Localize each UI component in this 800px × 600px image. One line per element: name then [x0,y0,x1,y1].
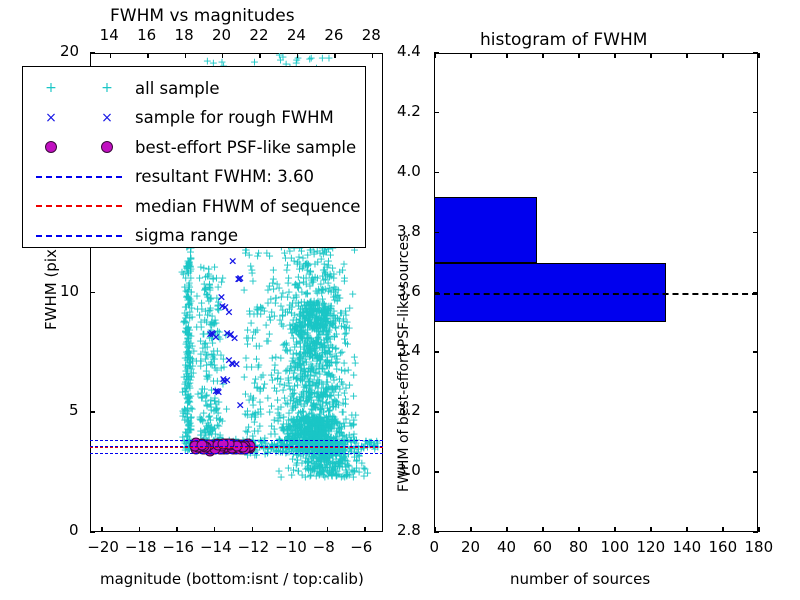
left-y-tick-10: 10 [60,282,79,300]
dashed-line-icon [36,205,122,207]
right-y-tick-4.0: 4.0 [397,162,421,180]
legend-plus-icon: ++ [23,81,135,95]
axis-tick [614,527,616,532]
left-bottom-tick-5: −10 [275,538,307,556]
scatter-point-all-sample: + [181,338,190,349]
legend-dashed-line-icon [23,205,135,207]
legend-entry-4: median FHWM of sequence [23,191,365,221]
axis-tick [753,531,758,533]
axis-tick [758,527,760,532]
scatter-point-all-sample: + [203,55,212,66]
scatter-point-all-sample: + [253,250,262,261]
axis-tick [758,53,760,58]
scatter-point-all-sample: + [242,332,251,343]
left-bottom-tick-6: −8 [313,538,335,556]
axis-tick [753,411,758,413]
scatter-point-all-sample: + [251,412,260,423]
right-x-tick-20: 20 [461,538,480,556]
scatter-point-all-sample: + [328,471,337,482]
right-x-tick-0: 0 [430,538,440,556]
axis-tick [686,527,688,532]
axis-tick [434,531,439,533]
x-icon: × [45,111,57,125]
scatter-point-all-sample: + [267,370,276,381]
legend-label: resultant FWHM: 3.60 [135,167,314,186]
legend-entry-5: sigma range [23,221,365,251]
legend-x-icon: ×× [23,111,135,125]
legend-dashed-line-icon [23,176,135,178]
dashdot-line-icon [36,235,122,237]
scatter-point-all-sample: + [294,466,303,477]
legend-label: all sample [135,79,220,98]
scatter-point-all-sample: + [193,388,202,399]
scatter-point-all-sample: + [340,365,349,376]
scatter-point-all-sample: + [299,324,308,335]
axis-tick [578,53,580,58]
axis-tick [434,411,439,413]
scatter-point-all-sample: + [296,338,305,349]
scatter-point-all-sample: + [326,371,335,382]
scatter-point-all-sample: + [328,341,337,352]
axis-tick [542,527,544,532]
axis-tick [252,527,254,532]
scatter-point-all-sample: + [284,375,293,386]
axis-tick [259,53,261,58]
axis-tick [297,53,299,58]
axis-tick [185,53,187,58]
scatter-point-all-sample: + [279,419,288,430]
scatter-point-all-sample: + [301,312,310,323]
circle-icon [45,141,57,153]
axis-tick [722,527,724,532]
scatter-point-all-sample: + [186,403,195,414]
scatter-point-all-sample: + [240,372,249,383]
scatter-point-all-sample: + [343,338,352,349]
histogram-median-line [434,293,758,295]
legend-box: ++all sample××sample for rough FWHMbest-… [22,66,366,248]
scatter-point-all-sample: + [182,369,191,380]
scatter-point-all-sample: + [321,273,330,284]
axis-tick [327,527,329,532]
axis-tick [90,411,95,413]
scatter-point-all-sample: + [253,382,262,393]
scatter-point-all-sample: + [319,388,328,399]
axis-tick [578,527,580,532]
scatter-point-all-sample: + [186,418,195,429]
scatter-point-all-sample: + [200,314,209,325]
scatter-point-all-sample: + [294,407,303,418]
scatter-point-rough-fwhm: × [235,273,244,284]
right-x-tick-160: 160 [709,538,738,556]
scatter-point-all-sample: + [319,249,328,260]
scatter-point-all-sample: + [202,374,211,385]
left-xlabel: magnitude (bottom:isnt / top:calib) [100,570,364,588]
scatter-point-all-sample: + [282,264,291,275]
axis-tick [753,232,758,234]
right-x-tick-140: 140 [673,538,702,556]
left-bottom-tick-3: −14 [200,538,232,556]
axis-tick [364,527,366,532]
scatter-point-all-sample: + [275,53,284,61]
scatter-point-rough-fwhm: × [222,374,231,385]
right-x-tick-100: 100 [601,538,630,556]
scatter-point-rough-fwhm: × [211,386,220,397]
scatter-point-all-sample: + [324,53,333,63]
axis-tick [470,53,472,58]
scatter-point-all-sample: + [256,309,265,320]
scatter-point-all-sample: + [265,312,274,323]
circle-icon [101,141,113,153]
axis-tick [289,527,291,532]
scatter-point-rough-fwhm: × [228,256,237,267]
scatter-point-all-sample: + [313,350,322,361]
axis-tick [90,292,95,294]
histogram-bar [434,197,537,263]
legend-entry-0: ++all sample [23,73,365,103]
axis-tick [753,52,758,54]
scatter-point-all-sample: + [247,361,256,372]
right-panel-title: histogram of FWHM [480,30,647,50]
scatter-point-all-sample: + [270,382,279,393]
left-bottom-tick-0: −20 [87,538,119,556]
scatter-point-all-sample: + [286,323,295,334]
axis-tick [506,527,508,532]
left-top-tick-26: 26 [324,26,343,44]
right-xlabel: number of sources [510,570,650,588]
left-y-tick-20: 20 [60,42,79,60]
left-top-tick-16: 16 [137,26,156,44]
scatter-point-all-sample: + [265,280,274,291]
axis-tick [434,112,439,114]
scatter-point-all-sample: + [325,420,334,431]
axis-tick [506,53,508,58]
right-x-tick-40: 40 [497,538,516,556]
left-panel-title: FWHM vs magnitudes [110,6,295,26]
scatter-point-all-sample: + [321,301,330,312]
left-top-tick-14: 14 [100,26,119,44]
scatter-point-all-sample: + [277,471,286,482]
scatter-point-all-sample: + [348,288,357,299]
axis-tick [434,52,439,54]
scatter-point-all-sample: + [281,307,290,318]
axis-tick [753,351,758,353]
x-icon: × [101,111,113,125]
left-y-tick-0: 0 [69,521,79,539]
scatter-point-all-sample: + [305,387,314,398]
scatter-point-all-sample: + [311,366,320,377]
scatter-point-all-sample: + [181,326,190,337]
scatter-point-all-sample: + [302,258,311,269]
right-y-tick-4.4: 4.4 [397,42,421,60]
axis-tick [90,531,95,533]
scatter-point-all-sample: + [347,410,356,421]
scatter-point-rough-fwhm: × [218,300,227,311]
scatter-point-all-sample: + [218,273,227,284]
scatter-point-rough-fwhm: × [236,400,245,411]
sigma-range-lower-line [90,453,383,454]
axis-tick [650,527,652,532]
scatter-point-all-sample: + [340,276,349,287]
axis-tick [139,527,141,532]
right-y-tick-2.8: 2.8 [397,521,421,539]
legend-label: median FHWM of sequence [135,197,360,216]
scatter-point-all-sample: + [342,467,351,478]
right-histogram-plot-area [434,53,758,532]
left-y-tick-5: 5 [69,401,79,419]
scatter-point-all-sample: + [285,345,294,356]
scatter-point-all-sample: + [331,284,340,295]
axis-tick [90,52,95,54]
scatter-point-all-sample: + [332,381,341,392]
scatter-point-all-sample: + [350,352,359,363]
axis-tick [470,527,472,532]
axis-tick [650,53,652,58]
scatter-point-all-sample: + [339,258,348,269]
axis-tick [110,53,112,58]
left-top-tick-20: 20 [212,26,231,44]
legend-entry-1: ××sample for rough FWHM [23,103,365,133]
median-fwhm-line [90,447,383,448]
scatter-point-all-sample: + [201,284,210,295]
scatter-point-all-sample: + [202,360,211,371]
axis-tick [147,53,149,58]
axis-tick [372,53,374,58]
legend-dot-icon [23,141,135,153]
axis-tick [101,527,103,532]
right-x-tick-60: 60 [533,538,552,556]
scatter-point-all-sample: + [321,317,330,328]
scatter-point-all-sample: + [296,351,305,362]
scatter-point-all-sample: + [290,279,299,290]
left-bottom-tick-2: −16 [162,538,194,556]
scatter-point-all-sample: + [196,336,205,347]
legend-label: best-effort PSF-like sample [135,138,356,157]
scatter-point-all-sample: + [263,336,272,347]
right-x-tick-120: 120 [637,538,666,556]
axis-tick [434,53,436,58]
left-top-tick-22: 22 [249,26,268,44]
right-x-tick-80: 80 [569,538,588,556]
left-ylabel: FWHM (pix) [42,243,60,330]
axis-tick [753,172,758,174]
right-y-tick-4.2: 4.2 [397,102,421,120]
scatter-point-all-sample: + [339,315,348,326]
legend-label: sample for rough FWHM [135,108,334,127]
left-top-tick-18: 18 [175,26,194,44]
plus-icon: + [101,81,113,95]
right-ylabel: FWHM of best-effort PSF-like sources [396,235,412,492]
scatter-point-all-sample: + [212,412,221,423]
scatter-point-rough-fwhm: × [208,328,217,339]
legend-entry-2: best-effort PSF-like sample [23,132,365,162]
left-bottom-tick-4: −12 [238,538,270,556]
axis-tick [334,53,336,58]
scatter-point-all-sample: + [247,264,256,275]
scatter-point-rough-fwhm: × [227,358,236,369]
axis-tick [614,53,616,58]
plus-icon: + [45,81,57,95]
scatter-point-all-sample: + [253,325,262,336]
right-x-tick-180: 180 [745,538,774,556]
scatter-point-rough-fwhm: × [225,330,234,341]
axis-tick [686,53,688,58]
axis-tick [434,232,439,234]
figure-canvas: FWHM vs magnitudes 1416182022242628 −20−… [0,0,800,600]
scatter-point-all-sample: + [179,269,188,280]
scatter-point-all-sample: + [352,463,361,474]
scatter-point-all-sample: + [248,395,257,406]
left-bottom-tick-7: −6 [350,538,372,556]
scatter-point-all-sample: + [296,395,305,406]
axis-tick [753,471,758,473]
legend-label: sigma range [135,226,238,245]
scatter-point-all-sample: + [349,370,358,381]
left-top-tick-28: 28 [362,26,381,44]
axis-tick [222,53,224,58]
legend-entry-3: resultant FWHM: 3.60 [23,162,365,192]
axis-tick [434,471,439,473]
axis-tick [753,112,758,114]
axis-tick [542,53,544,58]
left-top-tick-24: 24 [287,26,306,44]
scatter-point-all-sample: + [324,357,333,368]
sigma-range-upper-line [90,440,383,441]
axis-tick [214,527,216,532]
left-bottom-tick-1: −18 [125,538,157,556]
dashed-line-icon [36,176,122,178]
scatter-point-all-sample: + [302,278,311,289]
legend-dashdot-line-icon [23,235,135,237]
axis-tick [434,172,439,174]
scatter-point-all-sample: + [287,253,296,264]
scatter-point-all-sample: + [204,263,213,274]
axis-tick [722,53,724,58]
scatter-point-all-sample: + [297,423,306,434]
axis-tick [434,351,439,353]
axis-tick [176,527,178,532]
